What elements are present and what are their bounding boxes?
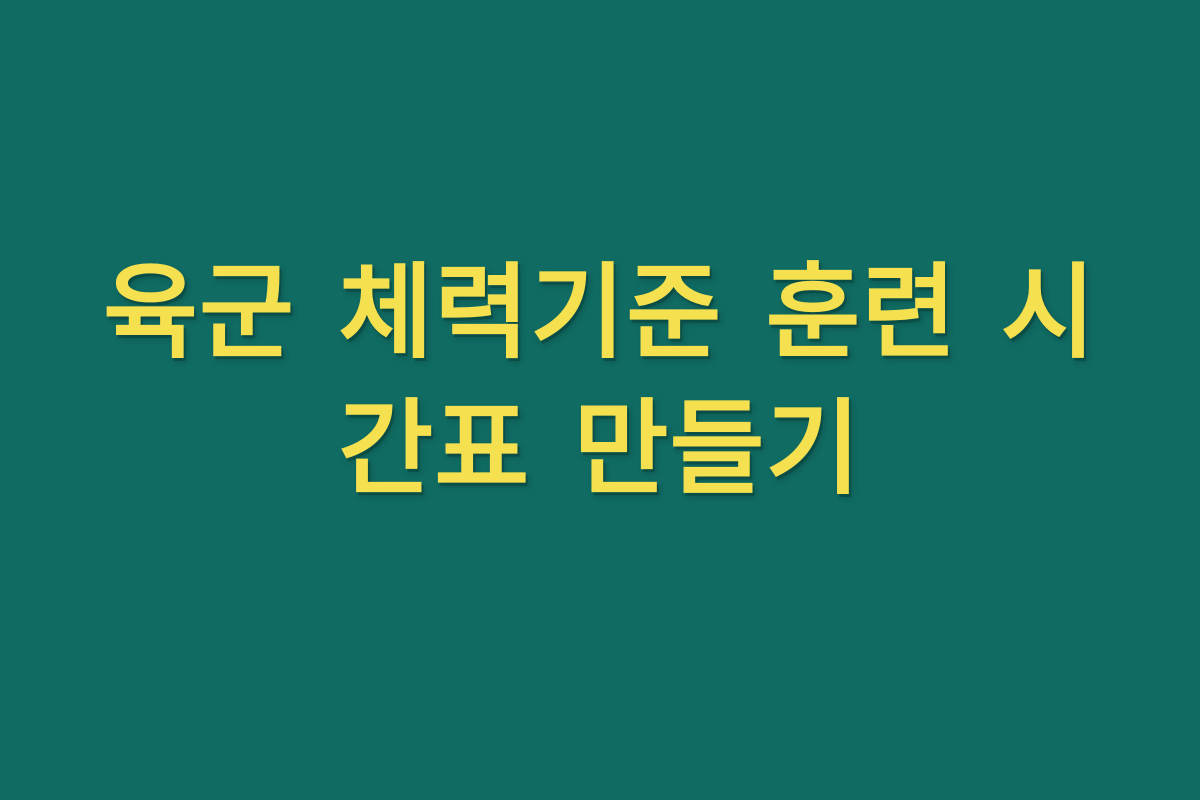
thumbnail-canvas: 육군 체력기준 훈련 시간표 만들기 xyxy=(0,0,1200,800)
title-block: 육군 체력기준 훈련 시간표 만들기 xyxy=(60,246,1140,518)
page-title: 육군 체력기준 훈련 시간표 만들기 xyxy=(60,246,1140,518)
